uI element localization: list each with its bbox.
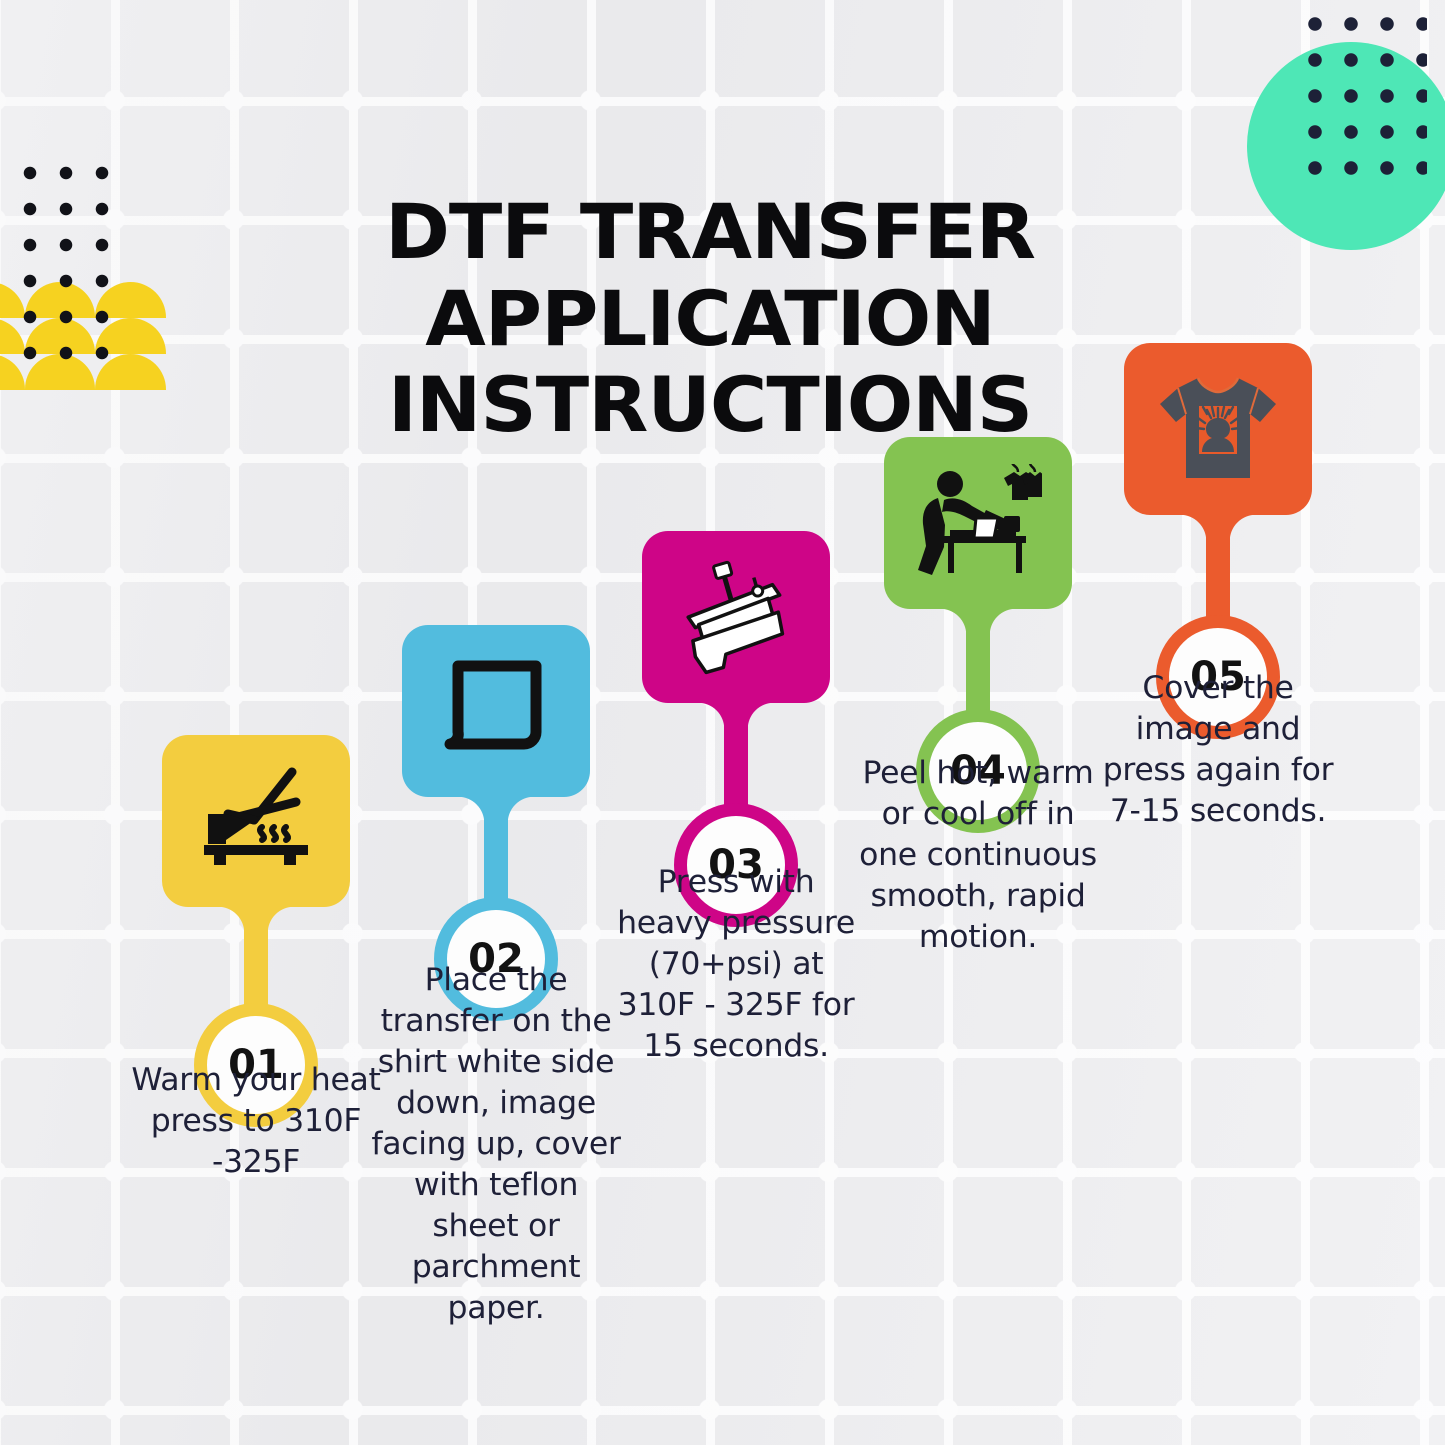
step-icon-tile[interactable] (642, 531, 830, 703)
step-icon-tile[interactable] (402, 625, 590, 797)
step-connector-neck (1206, 515, 1230, 625)
step-icon-tile[interactable] (884, 437, 1072, 609)
step-connector-fillet-right (990, 609, 1016, 635)
heat-press-machine-icon (672, 558, 800, 676)
step-connector-fillet-left (458, 797, 484, 823)
transfer-sheet-icon (432, 652, 560, 770)
step-caption: Press with heavy pressure (70+psi) at 31… (611, 862, 861, 1067)
step-connector-neck (244, 907, 268, 1013)
step-connector-neck (484, 797, 508, 907)
step-connector-fillet-left (1180, 515, 1206, 541)
step-connector-neck (724, 703, 748, 813)
step-caption: Place the transfer on the shirt white si… (371, 960, 621, 1328)
step-icon-tile[interactable] (162, 735, 350, 907)
step-connector-fillet-left (218, 907, 244, 933)
step-connector-fillet-right (508, 797, 534, 823)
person-peeling-transfer-icon (914, 464, 1042, 582)
heat-press-warming-icon (192, 762, 320, 880)
printed-tshirt-icon (1154, 370, 1282, 488)
step-connector-fillet-left (698, 703, 724, 729)
step-caption: Cover the image and press again for 7-15… (1093, 668, 1343, 832)
step-caption: Peel hot, warm or cool off in one contin… (853, 753, 1103, 958)
step-caption: Warm your heat press to 310F -325F (131, 1060, 381, 1183)
step-connector-neck (966, 609, 990, 719)
steps-container: 01 Warm your heat press to 310F -325F 02… (0, 0, 1445, 1445)
step-connector-fillet-right (268, 907, 294, 933)
step-icon-tile[interactable] (1124, 343, 1312, 515)
step-connector-fillet-left (940, 609, 966, 635)
step-connector-fillet-right (1230, 515, 1256, 541)
step-connector-fillet-right (748, 703, 774, 729)
